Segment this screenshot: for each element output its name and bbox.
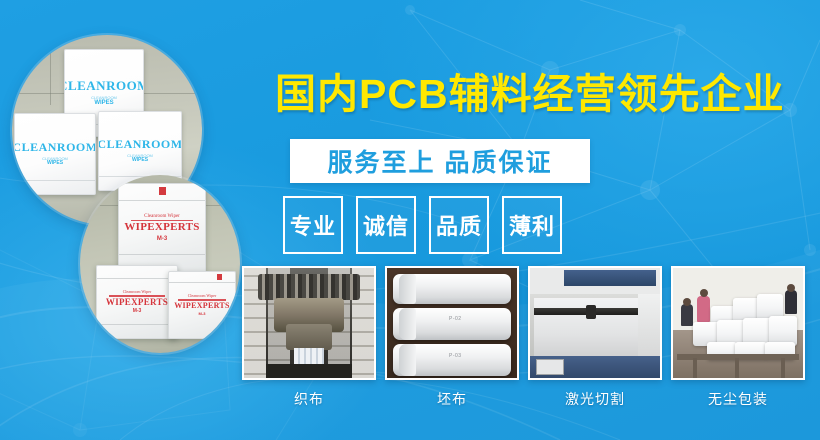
- process-caption: 坯布: [437, 389, 467, 409]
- worker-figure: [785, 290, 797, 314]
- wipexperts-pack-right: Cleanroom Wiper WIPEXPERTS M-3: [168, 271, 236, 339]
- worker-figure: [697, 296, 710, 322]
- process-photo-packing[interactable]: [671, 266, 805, 380]
- cleanroom-brand-text: CLEANROOM: [64, 79, 144, 92]
- process-photo-laser[interactable]: [528, 266, 662, 380]
- process-caption: 织布: [294, 389, 324, 409]
- cleanroom-sub2-text: WIPES: [94, 100, 113, 107]
- wipexperts-red-seal: [159, 187, 166, 195]
- cleanroom-sub2-text: WIPES: [132, 158, 148, 164]
- keyword-box-row: 专业 诚信 品质 薄利: [283, 196, 562, 254]
- wipexperts-model-text: M-3: [199, 312, 206, 316]
- wipexperts-pack-left: Cleanroom Wiper WIPEXPERTS M-3: [96, 265, 178, 339]
- process-photo-weaving[interactable]: [242, 266, 376, 380]
- wipexperts-brand-text: WIPEXPERTS: [174, 302, 230, 310]
- product-photo-wipexperts: Cleanroom Wiper WIPEXPERTS M-3 Cleanroom…: [80, 175, 240, 353]
- wipexperts-top-text: Cleanroom Wiper: [123, 290, 152, 294]
- wipexperts-brand-text: WIPEXPERTS: [124, 222, 199, 233]
- process-cell-weaving[interactable]: 织布: [244, 266, 374, 409]
- keyword-label: 品质: [436, 209, 482, 241]
- banner-subtitle-bar: 服务至上 品质保证: [290, 139, 590, 183]
- wipexperts-model-text: M-3: [157, 236, 167, 242]
- keyword-box-zhuanye[interactable]: 专业: [283, 196, 343, 254]
- promo-banner: CLEANROOM CLEANROOM WIPES CLEANROOM CLEA…: [0, 0, 820, 440]
- wipexperts-brand-text: WIPEXPERTS: [106, 298, 168, 307]
- keyword-label: 薄利: [509, 209, 555, 241]
- wipexperts-pack-top: Cleanroom Wiper WIPEXPERTS M-3: [118, 183, 206, 273]
- wipexperts-red-seal: [217, 274, 222, 280]
- keyword-label: 诚信: [363, 209, 409, 241]
- wipexperts-top-text: Cleanroom Wiper: [188, 294, 217, 298]
- worker-figure: [681, 304, 693, 326]
- banner-headline: 国内PCB辅料经营领先企业: [275, 74, 795, 115]
- process-cell-greige[interactable]: P-02 P-03 坯布: [387, 266, 517, 409]
- keyword-box-pinzhi[interactable]: 品质: [429, 196, 489, 254]
- wipexperts-model-text: M-3: [133, 309, 142, 314]
- keyword-box-chengxin[interactable]: 诚信: [356, 196, 416, 254]
- cleanroom-brand-text: CLEANROOM: [14, 141, 96, 153]
- process-cell-laser[interactable]: 激光切割: [530, 266, 660, 409]
- process-cell-packing[interactable]: 无尘包装: [673, 266, 803, 409]
- process-photo-strip: 织布 P-02 P-03 坯布: [244, 266, 803, 409]
- wipexperts-top-text: Cleanroom Wiper: [144, 214, 180, 219]
- process-photo-greige[interactable]: P-02 P-03: [385, 266, 519, 380]
- banner-subtitle-text: 服务至上 品质保证: [328, 143, 553, 179]
- keyword-box-baoli[interactable]: 薄利: [502, 196, 562, 254]
- keyword-label: 专业: [290, 209, 336, 241]
- cleanroom-brand-text: CLEANROOM: [98, 138, 182, 150]
- process-caption: 激光切割: [565, 389, 625, 409]
- process-caption: 无尘包装: [708, 389, 768, 409]
- cleanroom-sub2-text: WIPES: [47, 161, 63, 167]
